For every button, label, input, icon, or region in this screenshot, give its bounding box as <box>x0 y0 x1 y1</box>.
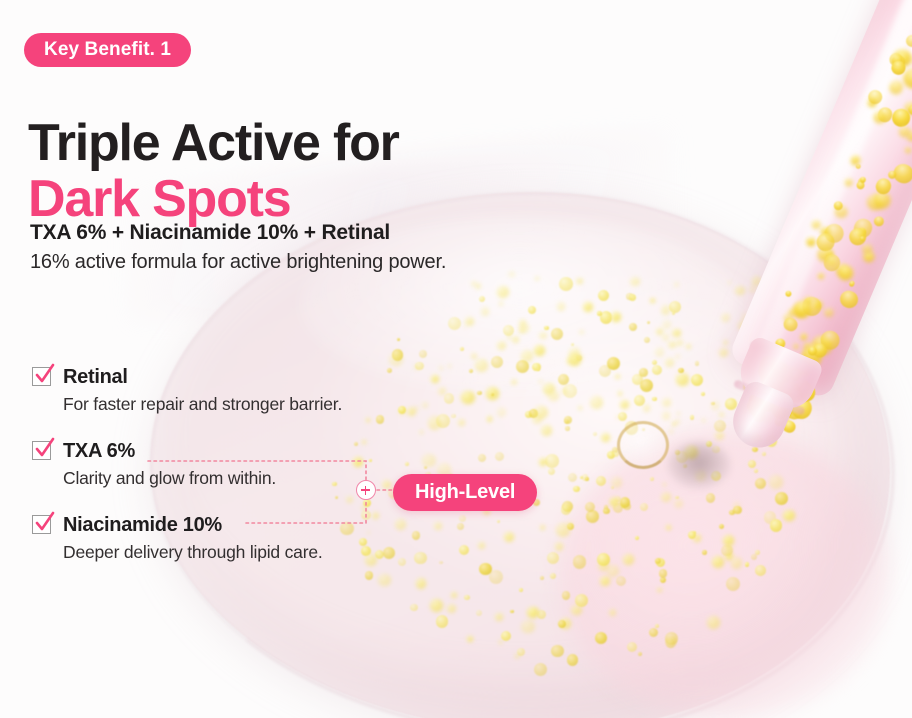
list-item-title: Niacinamide 10% <box>63 514 462 536</box>
key-benefit-badge: Key Benefit. 1 <box>24 33 191 67</box>
dropper-gloss <box>756 0 912 356</box>
dropper-gold-beads <box>895 0 912 4</box>
headline-line-1: Triple Active for <box>28 114 399 172</box>
high-level-badge: High-Level <box>393 474 537 511</box>
benefit-checklist: Retinal For faster repair and stronger b… <box>32 366 462 562</box>
connector-lines <box>0 0 912 718</box>
list-item: Niacinamide 10% Deeper delivery through … <box>32 514 462 562</box>
list-item-title: Retinal <box>63 366 462 388</box>
dropper-tip <box>725 378 797 455</box>
dropper-neck <box>733 335 825 416</box>
formula-description: 16% active formula for active brightenin… <box>30 251 446 274</box>
page-title: Triple Active for Dark Spots <box>28 115 399 227</box>
checkmark-icon[interactable] <box>32 515 51 534</box>
checkmark-icon[interactable] <box>32 441 51 460</box>
puddle-warm-glow <box>560 430 890 718</box>
list-item-desc: For faster repair and stronger barrier. <box>63 394 462 414</box>
dropper-ring-upper <box>749 340 822 377</box>
plus-icon <box>356 480 376 500</box>
list-item-desc: Deeper delivery through lipid care. <box>63 542 462 562</box>
dropper-ring-lower <box>733 379 806 416</box>
ingredient-summary: TXA 6% + Niacinamide 10% + Retinal <box>30 221 390 245</box>
dropper-pipette <box>692 0 912 483</box>
list-item-title: TXA 6% <box>63 440 462 462</box>
headline-line-2: Dark Spots <box>28 171 399 227</box>
droplet-shadow <box>668 442 730 488</box>
promo-graphic: Key Benefit. 1 Triple Active for Dark Sp… <box>0 0 912 718</box>
dropper-body <box>727 0 912 400</box>
list-item: Retinal For faster repair and stronger b… <box>32 366 462 414</box>
bubble-ring <box>617 421 669 469</box>
gel-puddle-image <box>0 0 912 718</box>
checkmark-icon[interactable] <box>32 367 51 386</box>
